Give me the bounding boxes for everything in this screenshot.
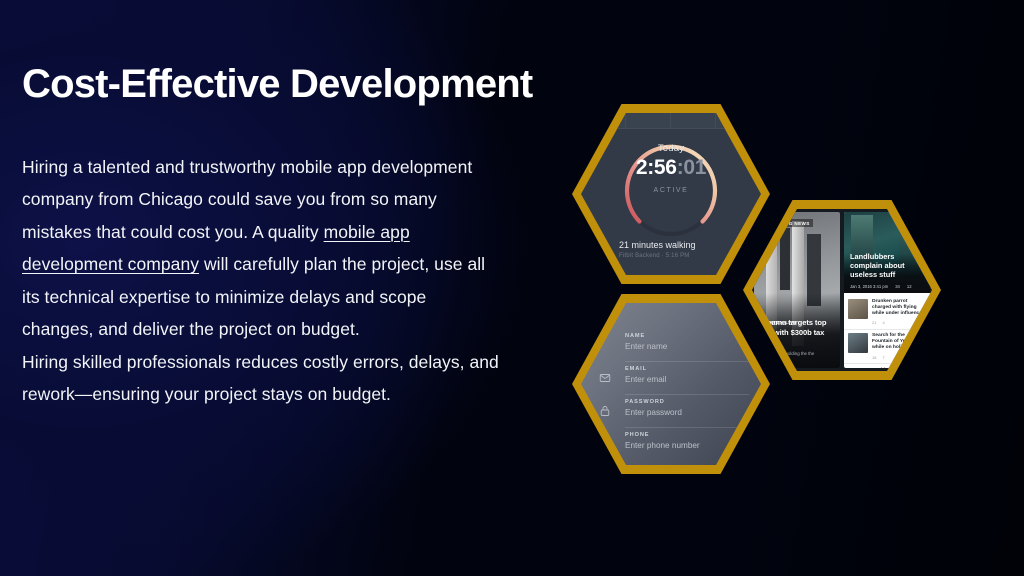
- list-item-body: Search for the Fountain of Youth while o…: [872, 333, 926, 360]
- today-label: Today: [581, 143, 761, 154]
- hexagon-news-app[interactable]: BREAKING NEWS WATCH LIVE Obama targets t…: [743, 200, 941, 380]
- hexagon-news-inner: BREAKING NEWS WATCH LIVE Obama targets t…: [752, 209, 932, 371]
- elapsed-time-seconds: :01: [677, 156, 706, 179]
- field-name-label: NAME: [625, 329, 751, 339]
- right-phone-hero: VIDEO Landlubbers complain about useless…: [844, 212, 930, 293]
- signup-form-screen: NAME Enter name: [581, 303, 761, 465]
- field-email-placeholder: Enter email: [625, 375, 751, 384]
- fitness-app-screen: Today 2:56:01 ACTIVE ▾ 21 minutes walkin…: [581, 113, 761, 275]
- list-item-meta: 21 4: [872, 320, 926, 325]
- topbar-cell: [626, 113, 671, 128]
- field-phone-placeholder: Enter phone number: [625, 441, 751, 450]
- fitness-center-readout: Today 2:56:01 ACTIVE: [581, 143, 761, 194]
- news-app-screens: BREAKING NEWS WATCH LIVE Obama targets t…: [752, 209, 932, 371]
- field-phone[interactable]: PHONE Enter phone number: [581, 428, 761, 461]
- activity-ring-icon: [599, 242, 610, 253]
- paragraph-1: Hiring a talented and trustworthy mobile…: [22, 151, 500, 346]
- envelope-icon: [599, 372, 611, 384]
- hexagon-form-inner: NAME Enter name: [581, 303, 761, 465]
- field-email[interactable]: EMAIL Enter email: [581, 362, 761, 395]
- list-item-title: Drunken parrot charged with flying while…: [872, 299, 926, 318]
- left-phone-meta: Trouble and bolding the the Economy: [761, 351, 832, 362]
- field-name[interactable]: NAME Enter name: [581, 329, 761, 362]
- activity-list-item[interactable]: 21 minutes walking Fitbit Backend · 5:16…: [599, 240, 751, 259]
- video-tag: VIDEO: [911, 217, 924, 222]
- body-copy: Hiring a talented and trustworthy mobile…: [22, 151, 500, 411]
- slide-canvas: Cost-Effective Development Hiring a tale…: [0, 0, 1024, 576]
- status-badge: ACTIVE: [581, 187, 761, 194]
- field-password-label: PASSWORD: [625, 395, 751, 405]
- list-item-thumbnail: [848, 333, 868, 353]
- hexagon-fitness-inner: Today 2:56:01 ACTIVE ▾ 21 minutes walkin…: [581, 113, 761, 275]
- left-phone-headline: Obama targets top 1% with $300b tax plan: [761, 318, 834, 346]
- hexagon-signup-form[interactable]: NAME Enter name: [572, 294, 770, 474]
- right-phone-meta: Jan 3, 2016 3:41 pm 34 12: [850, 284, 912, 289]
- article-comments: 12: [907, 284, 912, 289]
- expand-caret-icon[interactable]: ▾: [592, 253, 596, 262]
- activity-label: 21 minutes walking: [619, 240, 751, 250]
- text-column: Cost-Effective Development Hiring a tale…: [22, 62, 522, 411]
- right-phone-headline: Landlubbers complain about useless stuff: [850, 252, 925, 279]
- list-item-title: Search for the Fountain of Youth while o…: [872, 333, 926, 352]
- topbar-cell: [671, 113, 716, 128]
- field-email-label: EMAIL: [625, 362, 751, 372]
- field-name-placeholder: Enter name: [625, 342, 751, 351]
- activity-sub: Fitbit Backend · 5:16 PM: [619, 253, 751, 259]
- list-item-meta: 18 7: [872, 355, 926, 360]
- field-phone-label: PHONE: [625, 428, 751, 438]
- lock-icon: [599, 405, 611, 417]
- news-list: Drunken parrot charged with flying while…: [844, 293, 930, 368]
- list-item-comments: 4: [882, 320, 884, 325]
- field-password-placeholder: Enter password: [625, 408, 751, 417]
- form-field-list: NAME Enter name: [581, 329, 761, 461]
- list-item-thumbnail: [848, 299, 868, 319]
- breaking-news-tag: BREAKING NEWS: [762, 219, 813, 227]
- building-detail: [780, 228, 790, 290]
- topbar-cell: [581, 113, 626, 128]
- page-title: Cost-Effective Development: [22, 62, 522, 107]
- list-item[interactable]: Avoid these 10 mistakes explorin' the ar…: [844, 364, 930, 368]
- news-phone-left[interactable]: BREAKING NEWS WATCH LIVE Obama targets t…: [754, 212, 840, 368]
- activity-text: 21 minutes walking Fitbit Backend · 5:16…: [619, 240, 751, 259]
- list-item-views: 18: [872, 355, 876, 360]
- article-views: 34: [895, 284, 900, 289]
- elapsed-time-main: 2:56: [636, 156, 677, 179]
- list-item[interactable]: Drunken parrot charged with flying while…: [844, 295, 930, 330]
- hexagon-image-cluster: Today 2:56:01 ACTIVE ▾ 21 minutes walkin…: [560, 90, 980, 520]
- list-item[interactable]: Search for the Fountain of Youth while o…: [844, 330, 930, 365]
- paragraph-2: Hiring skilled professionals reduces cos…: [22, 346, 500, 411]
- article-date: Jan 3, 2016 3:41 pm: [850, 284, 888, 289]
- hexagon-fitness-tracker[interactable]: Today 2:56:01 ACTIVE ▾ 21 minutes walkin…: [572, 104, 770, 284]
- field-password[interactable]: PASSWORD Enter password: [581, 395, 761, 428]
- list-item-views: 21: [872, 320, 876, 325]
- elapsed-time: 2:56:01: [581, 157, 761, 178]
- list-item-body: Drunken parrot charged with flying while…: [872, 299, 926, 326]
- list-item-comments: 7: [882, 355, 884, 360]
- news-phone-right[interactable]: VIDEO Landlubbers complain about useless…: [844, 212, 930, 368]
- fitness-topbar: [581, 113, 761, 129]
- topbar-cell: [716, 113, 761, 128]
